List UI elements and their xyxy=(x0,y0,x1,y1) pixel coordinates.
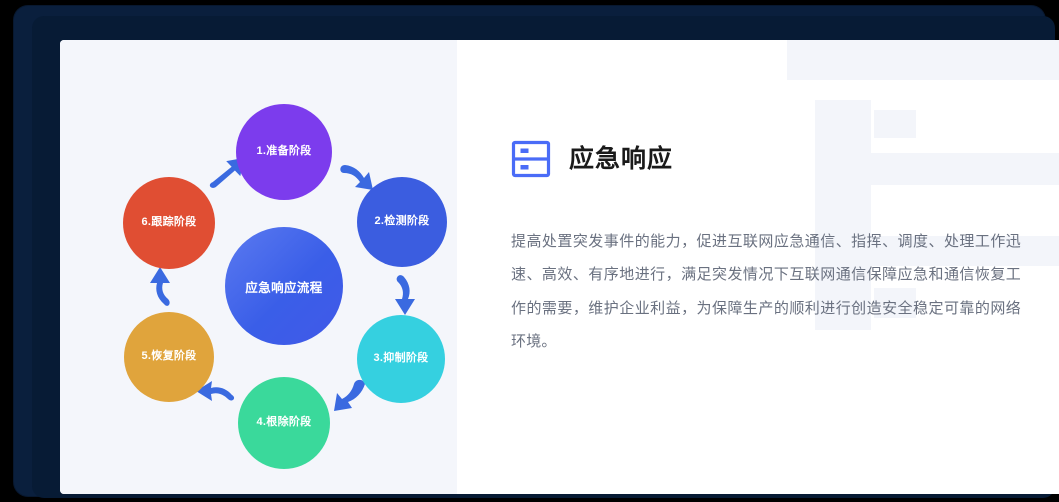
cycle-node-1-preparation[interactable]: 1.准备阶段 xyxy=(236,104,332,200)
content-card: 应急响应流程 1.准备阶段 2.检测阶段 3.抑制阶段 4.根除阶段 xyxy=(60,40,1059,494)
cycle-node-5-recovery[interactable]: 5.恢复阶段 xyxy=(124,312,214,402)
cycle-node-4-label: 4.根除阶段 xyxy=(257,416,312,429)
arrow-3-to-4 xyxy=(334,380,365,411)
description-content: 应急响应 提高处置突发事件的能力，促进互联网应急通信、指挥、调度、处理工作迅速、… xyxy=(457,40,1059,358)
page-title: 应急响应 xyxy=(569,147,673,172)
cycle-node-6-followup[interactable]: 6.跟踪阶段 xyxy=(123,177,215,269)
description-panel: 应急响应 提高处置突发事件的能力，促进互联网应急通信、指挥、调度、处理工作迅速、… xyxy=(457,40,1059,494)
screenshot-root: 应急响应流程 1.准备阶段 2.检测阶段 3.抑制阶段 4.根除阶段 xyxy=(0,0,1059,502)
cycle-center-label: 应急响应流程 xyxy=(245,277,322,296)
outer-frame: 应急响应流程 1.准备阶段 2.检测阶段 3.抑制阶段 4.根除阶段 xyxy=(14,6,1045,496)
cycle-node-2-detection[interactable]: 2.检测阶段 xyxy=(357,177,447,267)
server-rack-icon xyxy=(511,139,551,179)
emergency-response-cycle-diagram: 应急响应流程 1.准备阶段 2.检测阶段 3.抑制阶段 4.根除阶段 xyxy=(60,40,457,494)
cycle-node-5-label: 5.恢复阶段 xyxy=(142,350,197,363)
cycle-node-2-label: 2.检测阶段 xyxy=(375,215,430,228)
panel-header: 应急响应 xyxy=(511,139,1059,179)
cycle-node-1-label: 1.准备阶段 xyxy=(257,145,312,158)
cycle-node-4-eradication[interactable]: 4.根除阶段 xyxy=(238,377,330,469)
arrow-1-to-2 xyxy=(340,165,373,190)
description-text: 提高处置突发事件的能力，促进互联网应急通信、指挥、调度、处理工作迅速、高效、有序… xyxy=(511,225,1021,358)
inner-frame: 应急响应流程 1.准备阶段 2.检测阶段 3.抑制阶段 4.根除阶段 xyxy=(32,16,1055,498)
arrow-2-to-3 xyxy=(395,275,415,315)
cycle-node-6-label: 6.跟踪阶段 xyxy=(142,216,197,229)
arrow-5-to-6 xyxy=(150,267,170,306)
cycle-node-3-label: 3.抑制阶段 xyxy=(374,352,429,365)
diagram-panel: 应急响应流程 1.准备阶段 2.检测阶段 3.抑制阶段 4.根除阶段 xyxy=(60,40,457,494)
cycle-center-node: 应急响应流程 xyxy=(225,227,343,345)
cycle-node-3-containment[interactable]: 3.抑制阶段 xyxy=(357,315,445,403)
